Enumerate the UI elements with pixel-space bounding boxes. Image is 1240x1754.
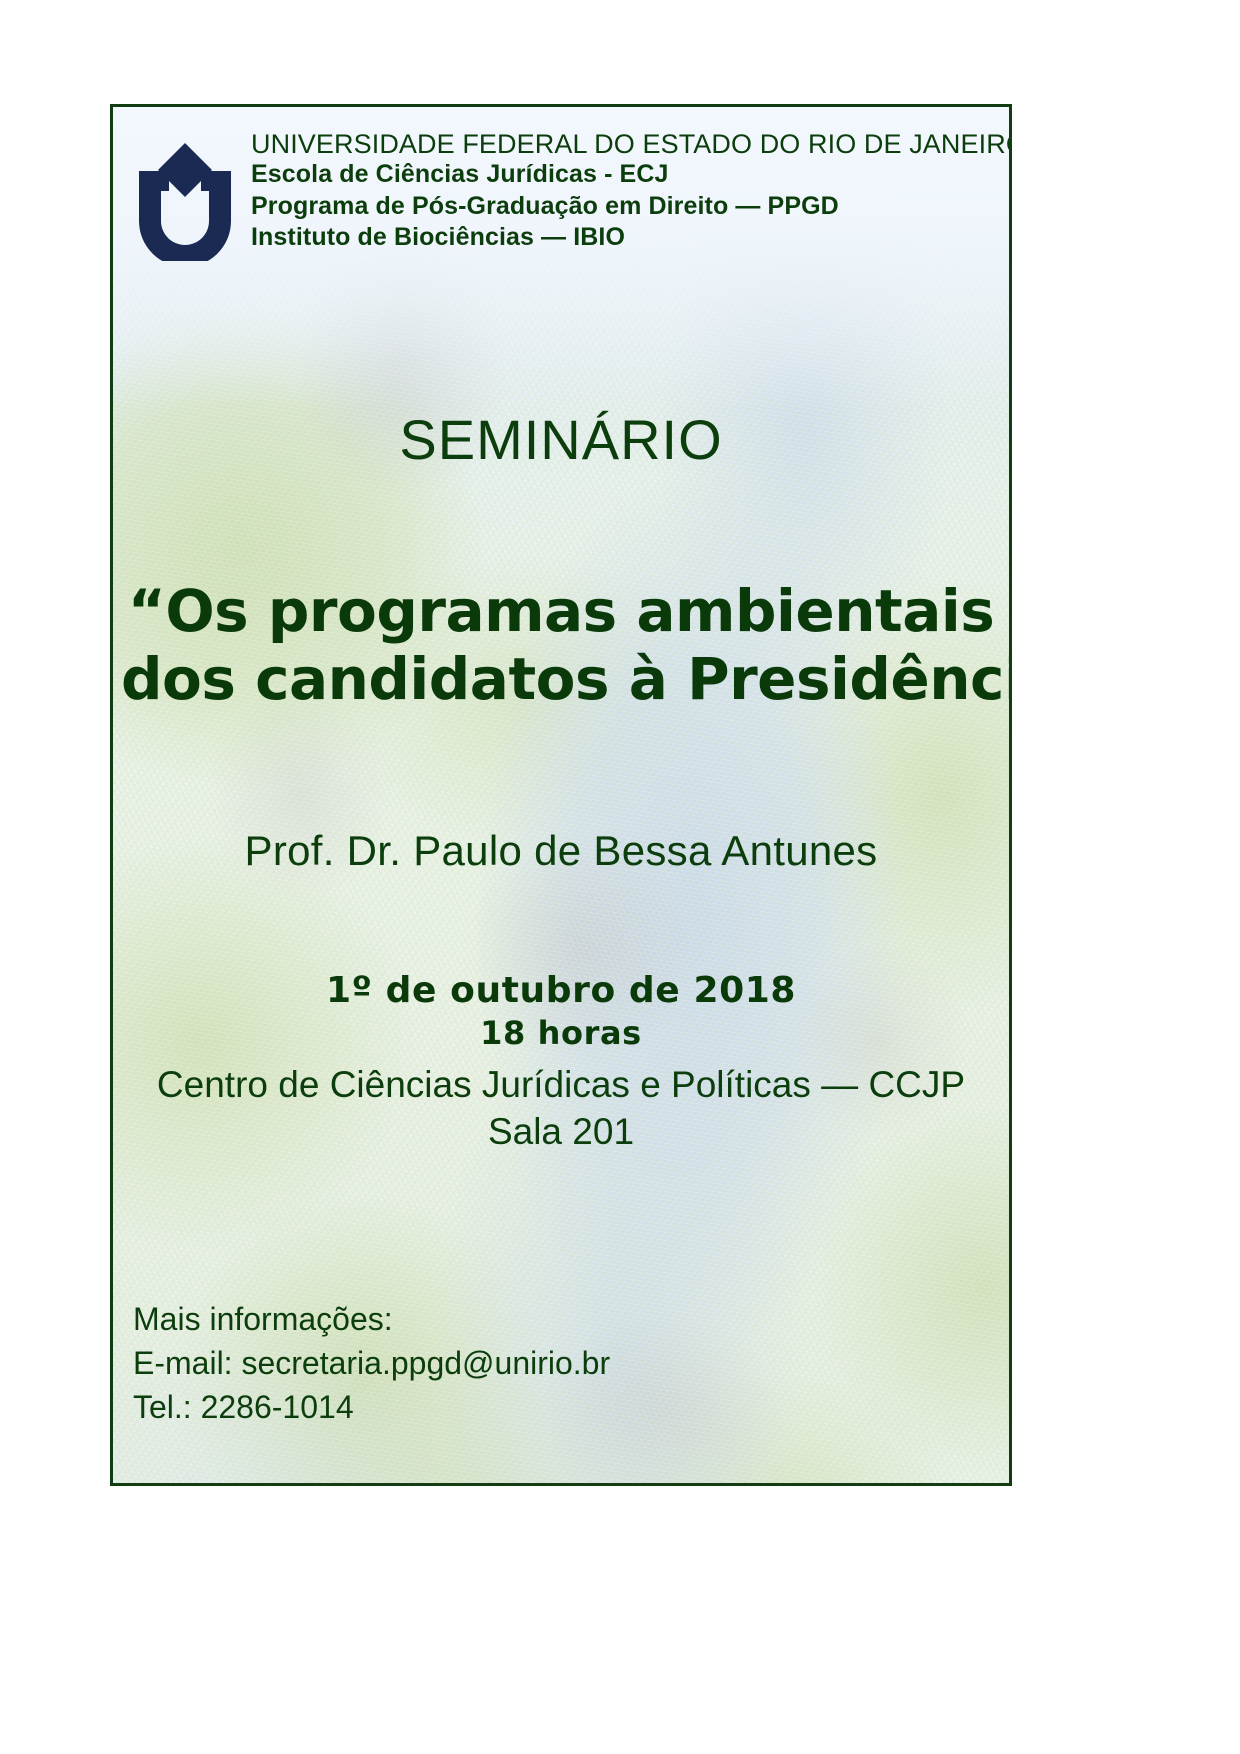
institute-name: Instituto de Biociências — IBIO — [251, 222, 1012, 254]
unirio-logo — [131, 129, 239, 261]
institution-header-lines: UNIVERSIDADE FEDERAL DO ESTADO DO RIO DE… — [251, 123, 1012, 254]
poster-content: UNIVERSIDADE FEDERAL DO ESTADO DO RIO DE… — [113, 107, 1009, 1483]
event-title: “Os programas ambientais dos candidatos … — [121, 577, 1001, 714]
event-title-line-2: dos candidatos à Presidência” — [121, 645, 1001, 713]
university-name: UNIVERSIDADE FEDERAL DO ESTADO DO RIO DE… — [251, 129, 1012, 159]
event-room: Sala 201 — [113, 1108, 1009, 1155]
school-name: Escola de Ciências Jurídicas - ECJ — [251, 159, 1012, 191]
poster-frame: UNIVERSIDADE FEDERAL DO ESTADO DO RIO DE… — [110, 104, 1012, 1486]
program-name: Programa de Pós-Graduação em Direito — P… — [251, 191, 1012, 223]
contact-phone: Tel.: 2286-1014 — [133, 1385, 610, 1429]
event-time: 18 horas — [113, 1013, 1009, 1053]
speaker-name: Prof. Dr. Paulo de Bessa Antunes — [113, 827, 1009, 875]
event-date: 1º de outubro de 2018 — [113, 969, 1009, 1013]
contact-block: Mais informações: E-mail: secretaria.ppg… — [133, 1297, 610, 1429]
event-title-line-1: “Os programas ambientais — [121, 577, 1001, 645]
institution-header: UNIVERSIDADE FEDERAL DO ESTADO DO RIO DE… — [131, 123, 991, 261]
more-info-label: Mais informações: — [133, 1297, 610, 1341]
event-kind-heading: SEMINÁRIO — [113, 407, 1009, 472]
contact-email[interactable]: E-mail: secretaria.ppgd@unirio.br — [133, 1341, 610, 1385]
event-venue: Centro de Ciências Jurídicas e Políticas… — [113, 1061, 1009, 1108]
event-details: 1º de outubro de 2018 18 horas Centro de… — [113, 969, 1009, 1156]
